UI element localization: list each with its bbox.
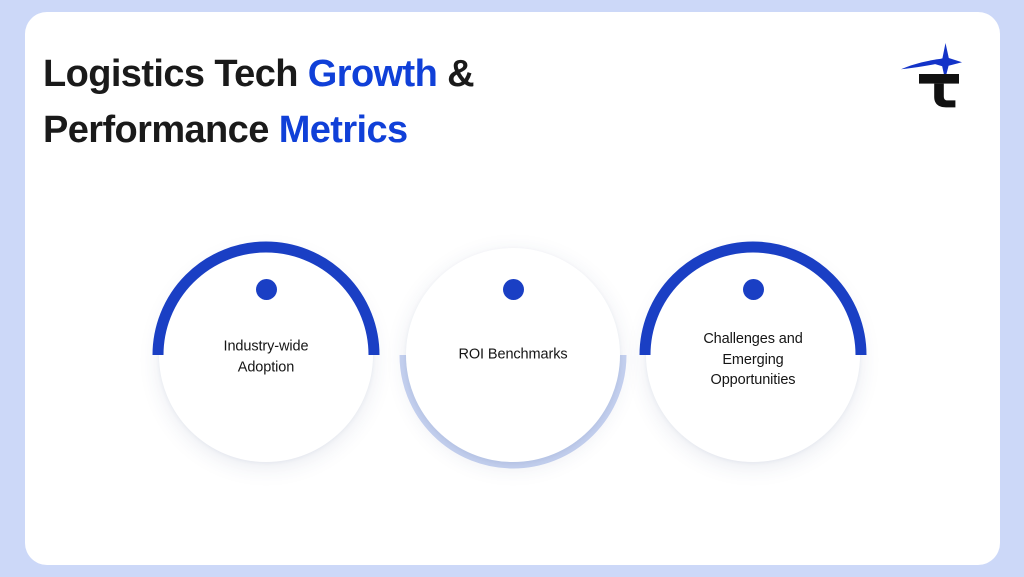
node-dot-marker xyxy=(503,279,524,300)
arc-top-dark xyxy=(150,239,382,471)
node-industry-wide-adoption-arc-layer xyxy=(159,248,373,462)
diagram-three-circles: Industry-wide Adoption ROI Benchmarks Ch… xyxy=(25,12,1000,565)
node-label-roi-benchmarks: ROI Benchmarks xyxy=(416,345,610,366)
label-line: ROI Benchmarks xyxy=(459,347,568,363)
node-roi-benchmarks[interactable]: ROI Benchmarks xyxy=(406,248,620,462)
node-challenges-arc-layer xyxy=(646,248,860,462)
arc-top-dark xyxy=(637,239,869,471)
slide-card: Logistics Tech Growth & Performance Metr… xyxy=(25,12,1000,565)
